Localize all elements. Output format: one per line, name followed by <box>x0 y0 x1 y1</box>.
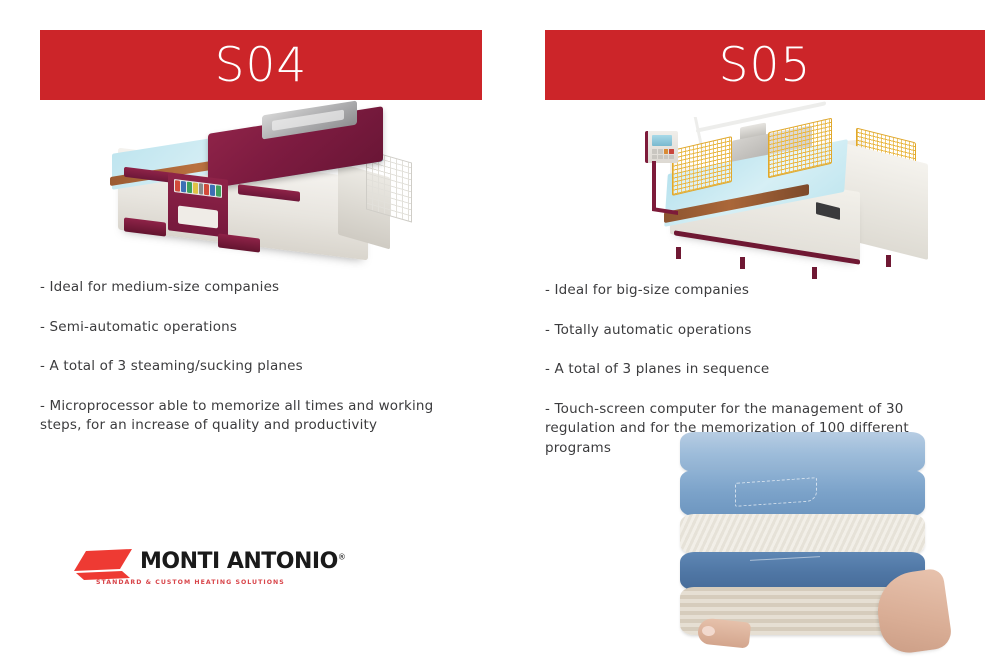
machine-leg <box>740 257 745 269</box>
control-panel-screen <box>174 179 222 198</box>
logo-wordmark: MONTI ANTONIO® <box>140 551 345 573</box>
clothes-layer <box>680 470 925 516</box>
company-logo: MONTI ANTONIO® STANDARD & CUSTOM HEATING… <box>72 545 302 593</box>
machine-image-s05 <box>640 105 950 280</box>
title-bar-s04: S04 <box>40 30 482 100</box>
terminal-post <box>652 161 656 211</box>
clothes-layer <box>680 432 925 472</box>
feature-item: - Totally automatic operations <box>545 321 945 341</box>
slide-root: S04 <box>0 0 1000 667</box>
logo-company-name: MONTI ANTONIO <box>140 549 338 574</box>
page-title-s04: S04 <box>215 42 308 89</box>
feature-item: - Ideal for big-size companies <box>545 281 945 301</box>
machine-leg <box>886 255 891 267</box>
feature-list-s04: - Ideal for medium-size companies - Semi… <box>40 278 470 436</box>
feature-item: - A total of 3 steaming/sucking planes <box>40 357 470 377</box>
clothes-layer <box>680 514 925 554</box>
registered-mark-icon: ® <box>338 553 346 562</box>
machine-image-s04 <box>90 108 430 268</box>
feature-item: - Microprocessor able to memorize all ti… <box>40 397 470 436</box>
title-bar-s05: S05 <box>545 30 985 100</box>
feature-item: - Ideal for medium-size companies <box>40 278 470 298</box>
touch-screen-keys <box>652 149 674 159</box>
machine-leg <box>812 267 817 279</box>
feature-item: - Semi-automatic operations <box>40 318 470 338</box>
feature-item: - A total of 3 planes in sequence <box>545 360 945 380</box>
machine-leg <box>676 247 681 259</box>
control-panel-door <box>178 206 218 229</box>
logo-tagline: STANDARD & CUSTOM HEATING SOLUTIONS <box>96 579 285 586</box>
machine-control-panel <box>168 172 228 237</box>
folded-clothes-photo <box>680 432 940 652</box>
touch-screen-display <box>652 135 672 146</box>
touch-screen-terminal <box>645 131 678 163</box>
page-title-s05: S05 <box>719 42 812 89</box>
